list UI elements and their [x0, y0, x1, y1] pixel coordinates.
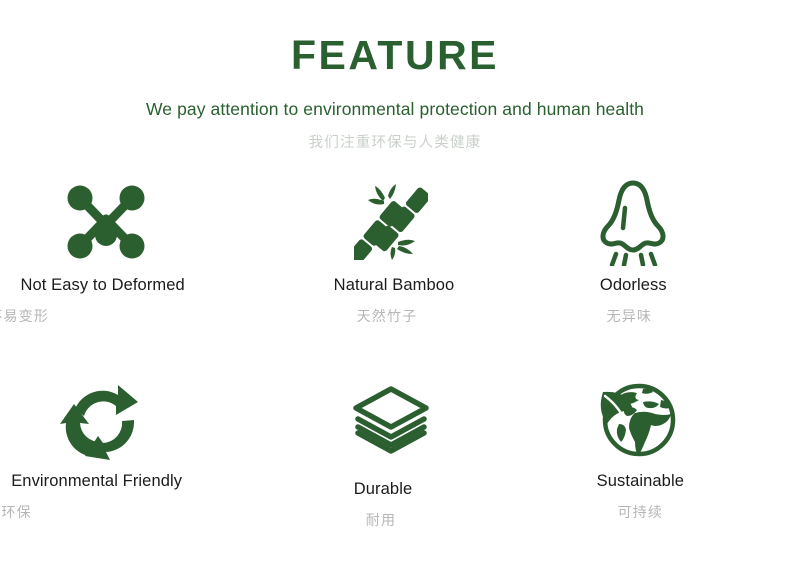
- feature-item-sustainable: Sustainable 可持续: [527, 370, 790, 566]
- feature-label-en: Natural Bamboo: [334, 276, 455, 295]
- section-header: FEATURE We pay attention to environmenta…: [0, 0, 790, 152]
- feature-label-cn: 环保: [1, 502, 31, 522]
- feature-label-cn: 天然竹子: [357, 306, 418, 326]
- subtitle-english: We pay attention to environmental protec…: [0, 99, 790, 120]
- subtitle-chinese: 我们注重环保与人类健康: [0, 131, 790, 152]
- feature-label-en: Odorless: [600, 276, 667, 295]
- recycle-icon: [60, 370, 144, 470]
- feature-label-en: Environmental Friendly: [11, 472, 182, 491]
- feature-item-natural-bamboo: Natural Bamboo 天然竹子: [263, 174, 526, 370]
- feature-item-environmental-friendly: Environmental Friendly 环保: [0, 370, 263, 566]
- page-title: FEATURE: [0, 34, 790, 77]
- globe-leaf-icon: [595, 370, 677, 470]
- feature-label-en: Sustainable: [597, 472, 684, 491]
- feature-label-cn: 无异味: [607, 306, 653, 326]
- nose-icon: [595, 174, 671, 270]
- feature-section: FEATURE We pay attention to environmenta…: [0, 0, 790, 576]
- bamboo-icon: [354, 174, 428, 270]
- layers-stack-icon: [352, 370, 430, 470]
- feature-item-odorless: Odorless 无异味: [527, 174, 790, 370]
- molecule-crosslink-icon: [67, 174, 145, 270]
- feature-item-durable: Durable 耐用: [263, 370, 526, 566]
- feature-label-en: Not Easy to Deformed: [21, 276, 185, 295]
- feature-item-not-easy-to-deformed: Not Easy to Deformed 不易变形: [0, 174, 263, 370]
- feature-label-cn: 可持续: [618, 502, 664, 522]
- feature-label-cn: 耐用: [366, 510, 396, 530]
- feature-grid: Not Easy to Deformed 不易变形: [0, 174, 790, 566]
- feature-label-cn: 不易变形: [0, 306, 49, 326]
- feature-label-en: Durable: [354, 480, 412, 499]
